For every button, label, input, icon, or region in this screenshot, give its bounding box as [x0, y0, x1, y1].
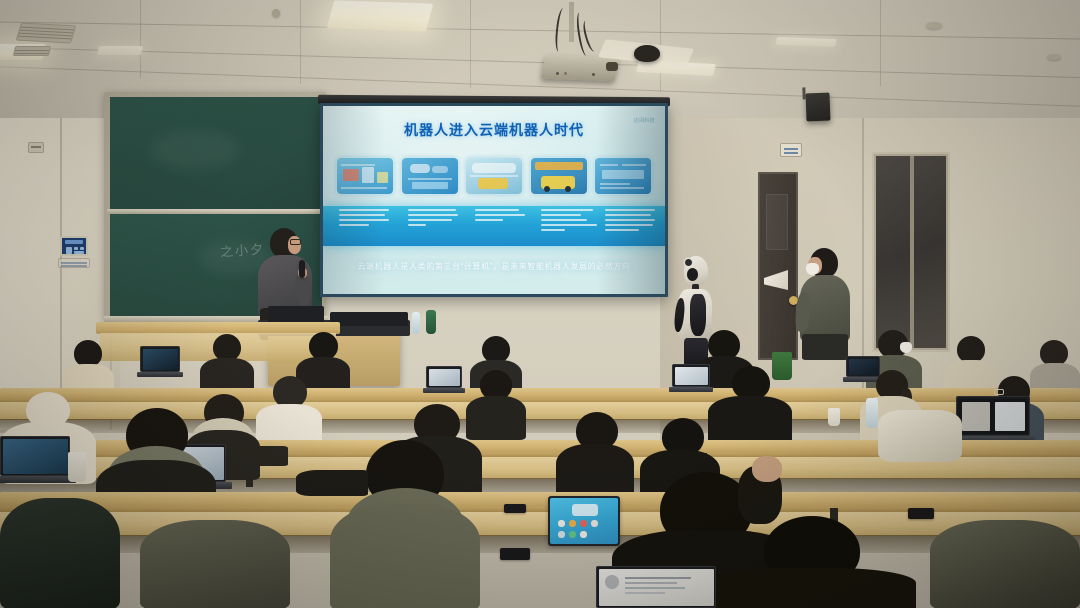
wall-notice-sign — [58, 258, 90, 268]
glasses-icon — [994, 389, 1004, 395]
ceiling-grid-line — [470, 0, 471, 88]
wall-power-socket[interactable] — [28, 142, 44, 153]
ceiling-air-vent — [16, 23, 77, 44]
jacket-on-desk — [232, 446, 288, 466]
torso — [706, 568, 916, 608]
info-column — [541, 209, 599, 234]
ceiling-grid-line — [880, 0, 881, 86]
head — [957, 336, 985, 363]
water-bottle — [412, 312, 420, 334]
tablet-app-icon[interactable] — [569, 531, 576, 538]
ceiling-light-main — [327, 0, 434, 31]
microphone[interactable] — [299, 260, 305, 278]
torso — [930, 520, 1080, 608]
thermos-cup — [68, 452, 86, 482]
audience-member — [708, 366, 792, 440]
laptop[interactable] — [0, 436, 70, 484]
face-mask — [900, 342, 912, 353]
presenter-glasses-icon — [290, 239, 301, 245]
paper-cup — [828, 408, 840, 426]
tablet-app-icon[interactable] — [580, 520, 587, 527]
presentation-slide: 机器人进入云端机器人时代 达闼科技 — [323, 106, 665, 294]
interior-window — [872, 152, 950, 352]
head — [74, 340, 102, 367]
tablet[interactable] — [548, 496, 620, 546]
projector-indicator-icon — [556, 72, 559, 75]
projector-indicator-icon — [592, 73, 595, 76]
laptop[interactable] — [426, 366, 462, 394]
ceiling-air-vent-2 — [13, 46, 51, 56]
audience-member-foreground — [0, 498, 120, 608]
tablet-app-icon[interactable] — [591, 520, 598, 527]
lectern-equipment — [330, 312, 408, 326]
thumb-data-center — [595, 158, 651, 194]
backpack — [878, 410, 962, 462]
thermos-flask — [426, 310, 436, 334]
standing-attendant — [796, 248, 854, 360]
slide-thumbnail-row — [337, 158, 651, 194]
tablet-app-icon[interactable] — [569, 520, 576, 527]
wall-notice-sign — [780, 143, 802, 157]
audience-member-foreground — [930, 520, 1080, 608]
torso — [0, 498, 120, 608]
slide-info-band — [323, 206, 665, 246]
info-column — [605, 209, 657, 234]
torso — [708, 396, 792, 444]
projector-lens-icon — [606, 62, 618, 71]
robot-camera-icon — [685, 259, 692, 266]
attendant-face-mask — [806, 263, 819, 275]
ceiling-light-rear — [97, 46, 143, 55]
slide-caption: 云端机器人是人类的第三台“计算机”，是未来智能机器人发展的必然方向 — [323, 261, 665, 272]
tablet-app-icon[interactable] — [558, 520, 565, 527]
info-column — [475, 209, 527, 224]
laptop[interactable] — [672, 364, 710, 392]
laptop[interactable] — [140, 346, 180, 378]
thumb-service-robot — [466, 158, 522, 194]
audience-member-foreground — [140, 520, 290, 608]
ceiling-grid-line — [300, 0, 301, 84]
audience-member-foreground — [330, 440, 480, 608]
laptop[interactable] — [956, 396, 1030, 444]
tablet-app-icon[interactable] — [580, 531, 587, 538]
head — [732, 366, 770, 400]
torso — [140, 520, 290, 608]
slide-title: 机器人进入云端机器人时代 — [323, 120, 665, 140]
water-bottle — [866, 398, 878, 428]
ceiling-dome-camera — [634, 45, 660, 62]
ceiling-grid-line — [140, 0, 141, 78]
wall-speaker — [806, 93, 831, 122]
smartphone[interactable] — [504, 504, 526, 513]
smartphone[interactable] — [500, 548, 530, 560]
slide-logo: 达闼科技 — [634, 117, 655, 124]
thumb-delivery-vehicle — [531, 158, 587, 194]
info-column — [339, 209, 391, 229]
info-column — [408, 209, 460, 229]
laptop[interactable] — [596, 566, 716, 608]
audience-member — [256, 376, 322, 442]
projector-mount-pole — [569, 2, 574, 42]
desk-row-c-top — [0, 492, 1080, 508]
head — [309, 332, 338, 360]
audience-member — [200, 334, 254, 396]
robot-face-icon — [687, 268, 698, 281]
wall-corner-right — [862, 92, 864, 392]
jacket-on-desk — [296, 470, 368, 496]
ceiling-smoke-detector-icon — [926, 22, 942, 29]
classroom-door[interactable] — [758, 172, 798, 360]
ceiling-sprinkler-icon — [272, 9, 280, 17]
torso — [330, 504, 480, 608]
lecture-hall-photo: 之小夕 机器人进入云端机器人时代 达闼科技 — [0, 0, 1080, 608]
thumb-smart-city — [337, 158, 393, 194]
thumb-cloud-network — [402, 158, 458, 194]
hand — [752, 456, 782, 482]
attendant-lower — [802, 334, 848, 360]
wall-control-panel[interactable] — [60, 236, 88, 256]
head — [213, 334, 241, 361]
blackboard-smudge — [150, 130, 240, 170]
projector-indicator-icon — [564, 72, 567, 75]
tablet-app-icon[interactable] — [558, 531, 565, 538]
audience-member-foreground — [706, 516, 916, 608]
head — [482, 336, 510, 363]
tablet-widget — [572, 504, 598, 516]
ceiling-smoke-detector-icon — [1047, 54, 1061, 60]
